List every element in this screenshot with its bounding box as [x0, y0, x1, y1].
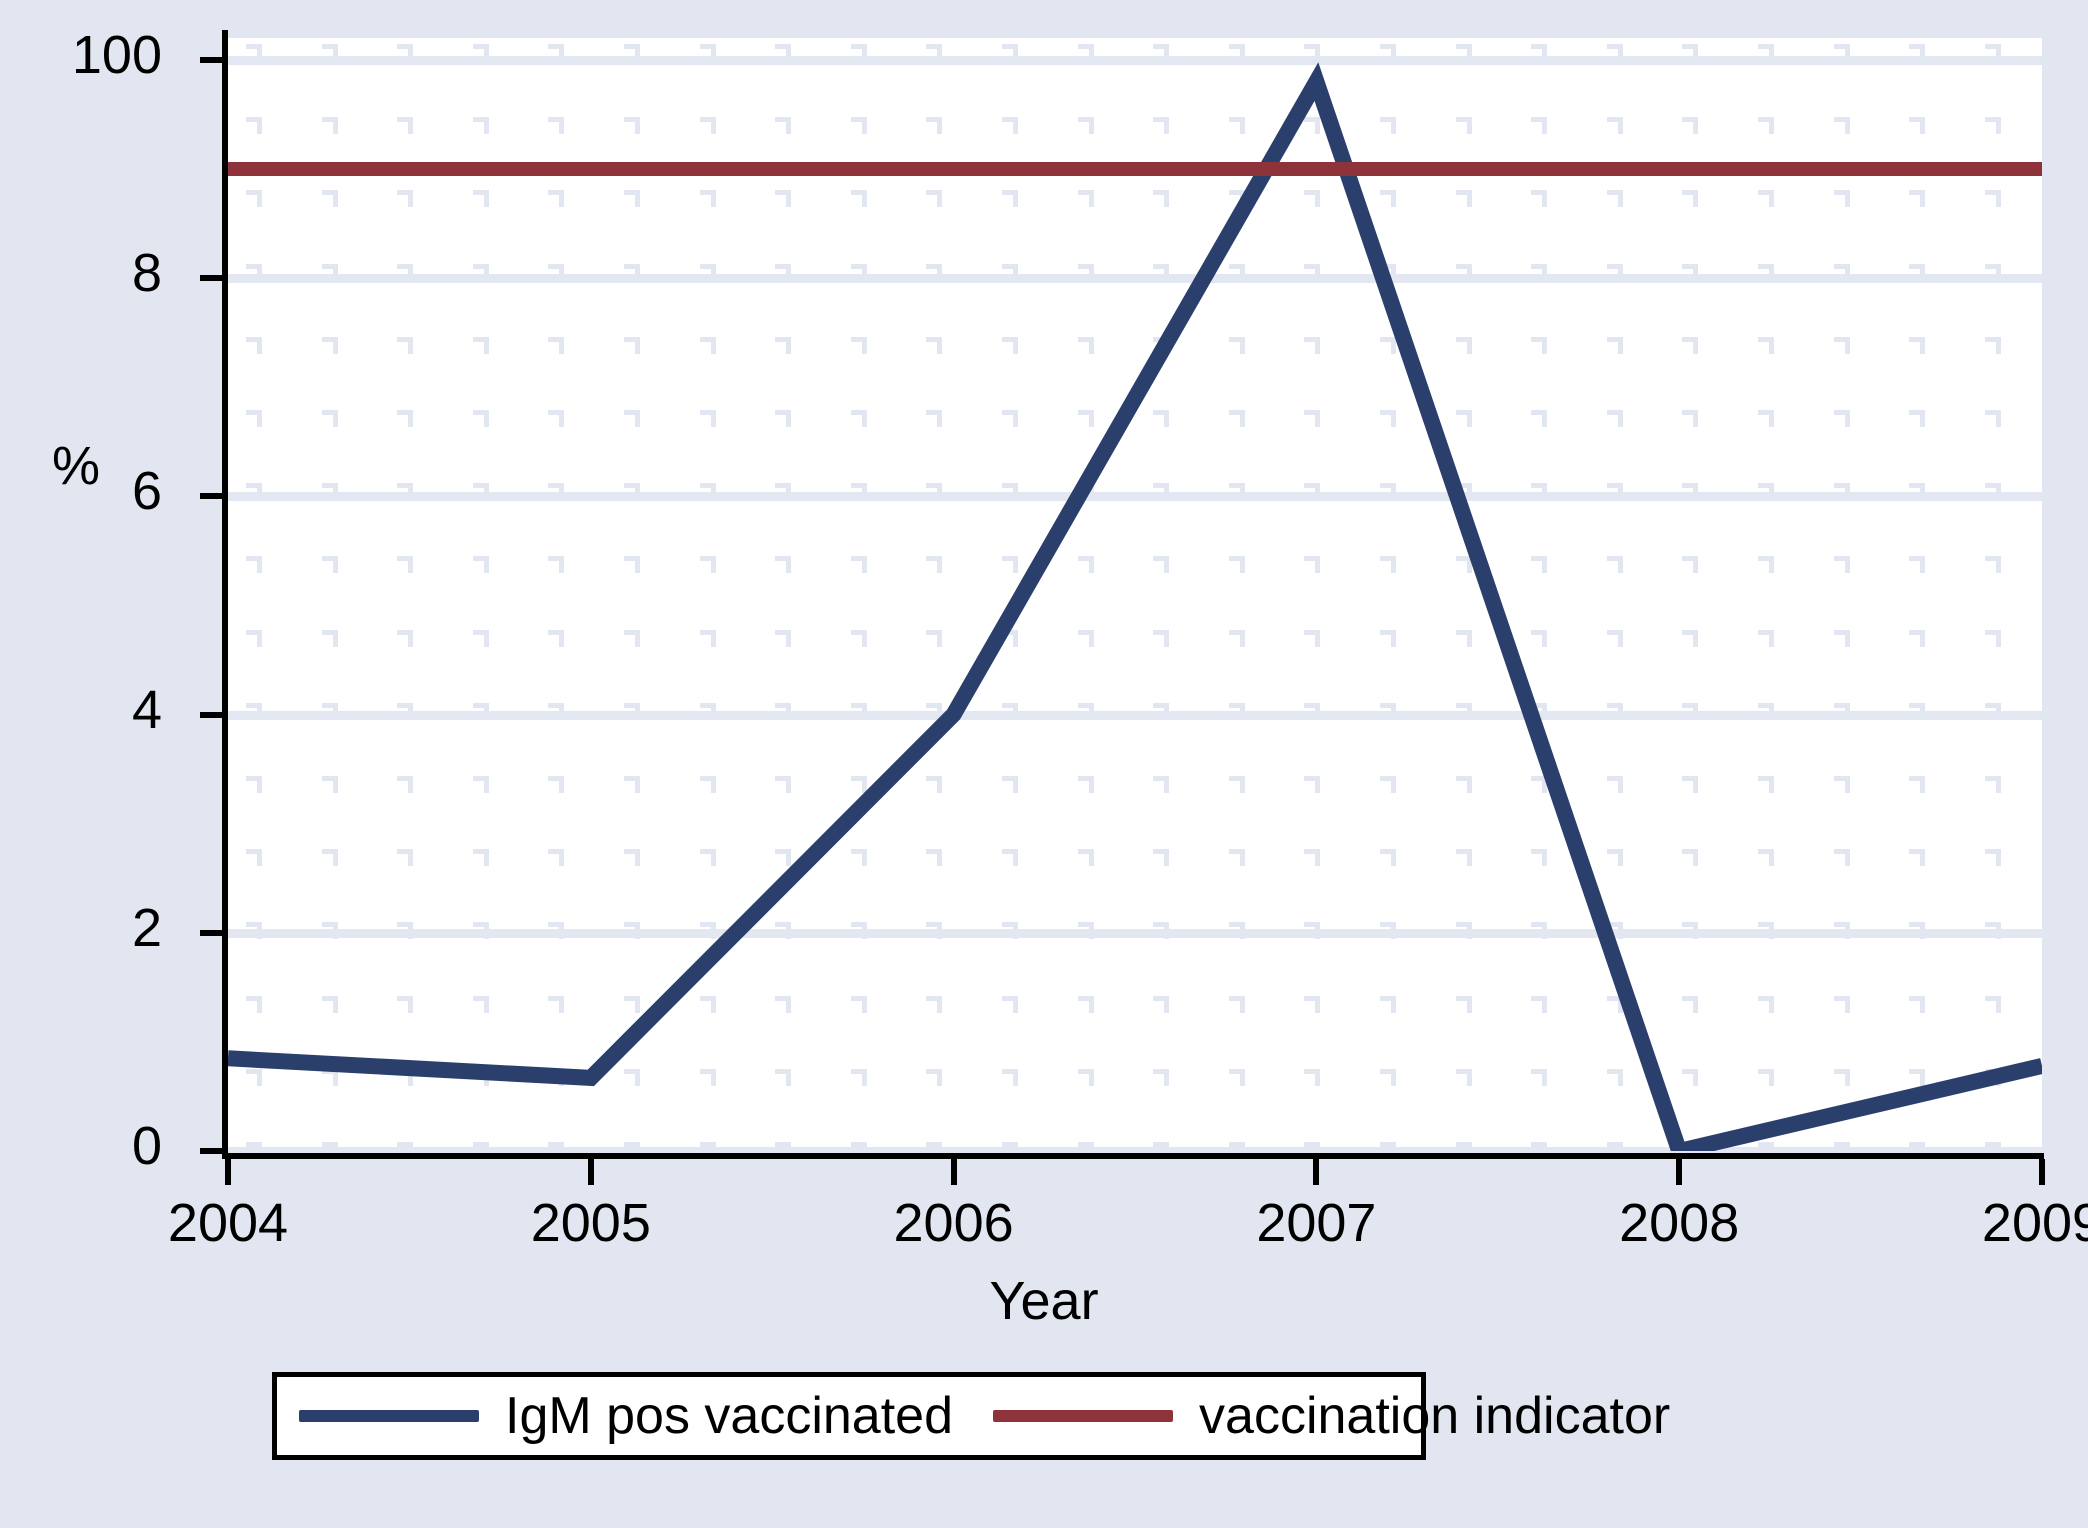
x-axis-tick-label: 2008 [1559, 1196, 1799, 1250]
y-axis-tick [200, 930, 222, 936]
x-axis-tick-label: 2005 [471, 1196, 711, 1250]
x-axis-tick-label: 2004 [108, 1196, 348, 1250]
x-axis-tick [1676, 1159, 1682, 1185]
legend-label: vaccination indicator [1199, 1386, 1670, 1446]
x-axis-line [222, 1153, 2044, 1159]
chart-figure: 02468100 200420052006200720082009 % Year… [0, 0, 2088, 1528]
x-axis-tick [951, 1159, 957, 1185]
y-axis-title: % [52, 435, 100, 497]
y-axis-tick-label: 100 [72, 28, 162, 82]
series-line-igm-pos-vaccinated [228, 82, 2042, 1151]
x-axis-tick-label: 2009 [1922, 1196, 2088, 1250]
y-axis-tick-label: 2 [132, 901, 162, 955]
x-axis-tick [225, 1159, 231, 1185]
x-axis-tick [2039, 1159, 2045, 1185]
y-axis-tick [200, 712, 222, 718]
y-axis-tick [200, 275, 222, 281]
chart-legend: IgM pos vaccinated vaccination indicator [272, 1372, 1426, 1460]
y-axis-tick-label: 4 [132, 683, 162, 737]
y-axis-tick [200, 493, 222, 499]
y-axis-tick-label: 8 [132, 246, 162, 300]
x-axis-tick-label: 2006 [834, 1196, 1074, 1250]
y-axis-line [222, 30, 228, 1159]
y-axis-tick-label: 0 [132, 1119, 162, 1173]
y-axis-tick [200, 1148, 222, 1154]
x-axis-title: Year [0, 1270, 2088, 1332]
x-axis-tick-label: 2007 [1196, 1196, 1436, 1250]
plot-area [228, 38, 2042, 1151]
y-axis-tick [200, 57, 222, 63]
x-axis-tick [1313, 1159, 1319, 1185]
series-layer [228, 38, 2042, 1151]
legend-item-igm-pos-vaccinated[interactable]: IgM pos vaccinated [299, 1386, 953, 1446]
legend-color-swatch-line-icon [993, 1410, 1173, 1422]
legend-color-swatch-line-icon [299, 1410, 479, 1422]
legend-item-vaccination-indicator[interactable]: vaccination indicator [993, 1386, 1670, 1446]
y-axis-tick-label: 6 [132, 464, 162, 518]
legend-label: IgM pos vaccinated [505, 1386, 953, 1446]
x-axis-tick [588, 1159, 594, 1185]
